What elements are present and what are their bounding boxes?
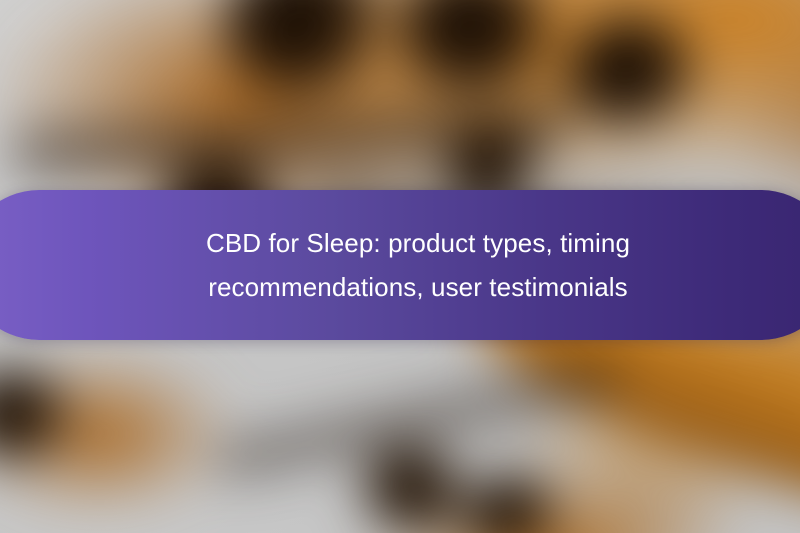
title-banner: CBD for Sleep: product types, timing rec… bbox=[0, 190, 800, 340]
screenshot-canvas: CBD for Sleep: product types, timing rec… bbox=[0, 0, 800, 533]
page-title-line-2: recommendations, user testimonials bbox=[108, 265, 728, 309]
page-title: CBD for Sleep: product types, timing rec… bbox=[108, 221, 728, 309]
page-title-line-1: CBD for Sleep: product types, timing bbox=[108, 221, 728, 265]
